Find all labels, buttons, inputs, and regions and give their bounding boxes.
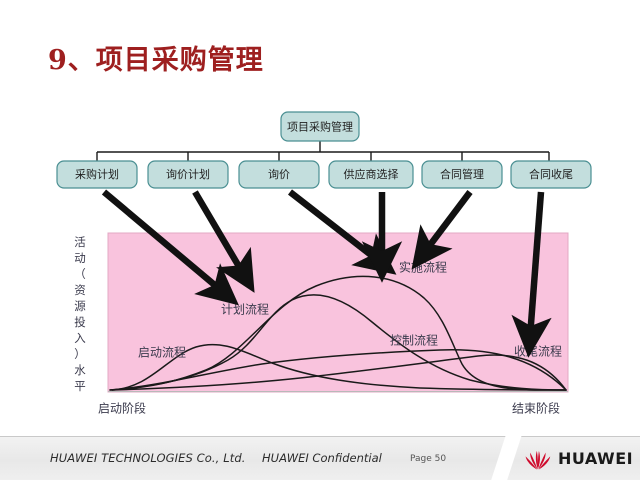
org-node-label: 合同管理 xyxy=(440,167,484,181)
x-axis-start-label: 启动阶段 xyxy=(98,401,146,416)
org-node-xunjiajihua[interactable]: 询价计划 xyxy=(148,161,228,188)
org-connectors xyxy=(97,141,549,161)
huawei-wordmark: HUAWEI xyxy=(558,449,633,468)
y-axis-char: 源 xyxy=(74,299,86,313)
org-node-hetongguanli[interactable]: 合同管理 xyxy=(422,161,502,188)
y-axis-char: 水 xyxy=(74,363,86,377)
y-axis-char: 资 xyxy=(74,283,86,297)
org-node-label: 采购计划 xyxy=(75,167,119,181)
footer-page-number: Page 50 xyxy=(410,454,446,464)
y-axis-char: 入 xyxy=(74,331,86,345)
org-node-label: 合同收尾 xyxy=(529,167,573,181)
y-axis-char: ） xyxy=(74,347,86,361)
footer-confidential-text: HUAWEI Confidential xyxy=(262,451,382,465)
org-node-gongyingshangxuanze[interactable]: 供应商选择 xyxy=(329,161,413,188)
curve-label-shishi: 实施流程 xyxy=(399,260,447,275)
curve-label-jihua: 计划流程 xyxy=(221,302,269,317)
y-axis-char: 平 xyxy=(74,379,86,393)
org-node-caigoujihua[interactable]: 采购计划 xyxy=(57,161,137,188)
org-node-root-label: 项目采购管理 xyxy=(287,120,353,134)
footer-company-text: HUAWEI TECHNOLOGIES Co., Ltd. xyxy=(50,451,245,465)
org-node-root[interactable]: 项目采购管理 xyxy=(281,112,359,141)
slide-canvas: 9、项目采购管理 计划流程 启动流程 实施流程 控制流程 xyxy=(0,0,640,480)
org-node-hetongshouwei[interactable]: 合同收尾 xyxy=(511,161,591,188)
y-axis-char: 投 xyxy=(74,315,86,329)
y-axis-char: （ xyxy=(74,267,86,281)
org-node-xunjia[interactable]: 询价 xyxy=(239,161,319,188)
org-node-label: 询价计划 xyxy=(166,168,210,181)
curve-label-shouwei: 收尾流程 xyxy=(514,344,562,359)
huawei-logo-icon xyxy=(525,446,551,470)
y-axis-label: 活 动 （ 资 源 投 入 ） 水 平 xyxy=(74,235,86,393)
curve-label-kongzhi: 控制流程 xyxy=(390,333,438,348)
huawei-brand: HUAWEI xyxy=(525,446,633,470)
slide-footer: HUAWEI TECHNOLOGIES Co., Ltd. HUAWEI Con… xyxy=(0,436,640,480)
y-axis-char: 活 xyxy=(74,235,86,249)
procurement-diagram: 计划流程 启动流程 实施流程 控制流程 收尾流程 活 动 （ 资 源 投 入 ）… xyxy=(0,0,640,430)
y-axis-char: 动 xyxy=(74,251,86,265)
x-axis-end-label: 结束阶段 xyxy=(512,401,560,416)
curve-label-qidong: 启动流程 xyxy=(138,345,186,360)
org-node-label: 询价 xyxy=(268,168,290,181)
org-node-label: 供应商选择 xyxy=(344,167,399,181)
